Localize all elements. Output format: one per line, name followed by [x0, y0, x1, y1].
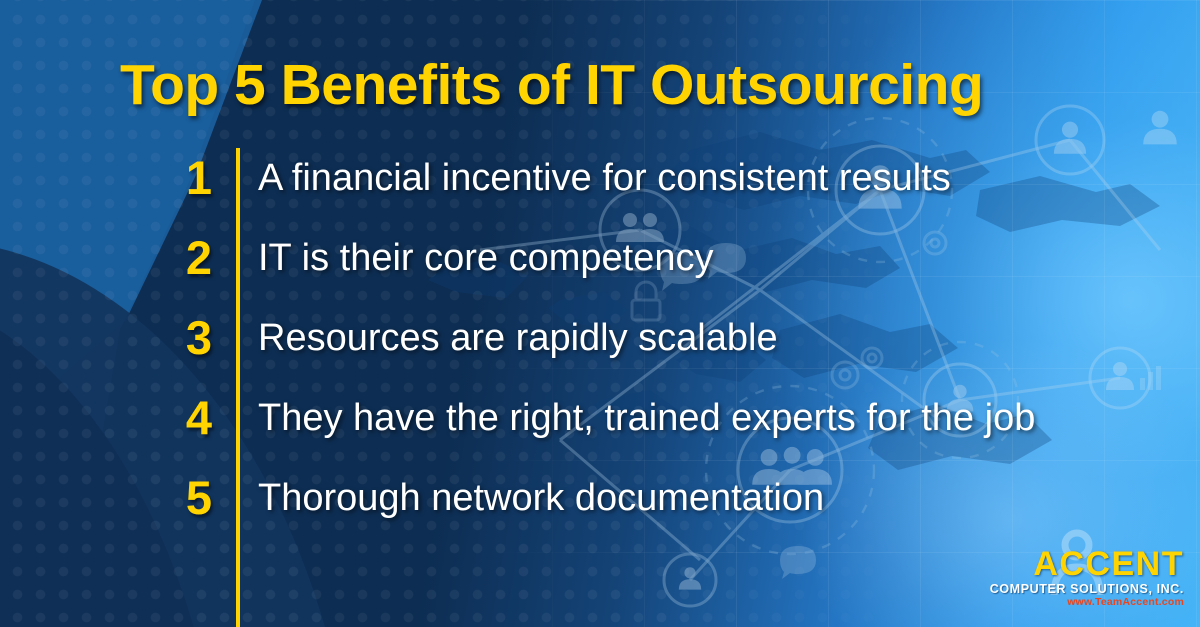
list-item-text: Resources are rapidly scalable — [258, 312, 778, 364]
infographic-poster: Top 5 Benefits of IT Outsourcing 1 A fin… — [0, 0, 1200, 627]
list-item-text: IT is their core competency — [258, 232, 713, 284]
list-item-text: They have the right, trained experts for… — [258, 392, 1035, 444]
list-item-number: 1 — [150, 152, 212, 204]
logo-url: www.TeamAccent.com — [990, 597, 1184, 608]
logo-name: ACCENT — [990, 547, 1184, 581]
list-item-text: Thorough network documentation — [258, 472, 824, 524]
yellow-divider-rule — [236, 148, 240, 627]
company-logo: ACCENT COMPUTER SOLUTIONS, INC. www.Team… — [990, 547, 1184, 607]
list-item-number: 3 — [150, 312, 212, 364]
list-item-number: 2 — [150, 232, 212, 284]
page-title: Top 5 Benefits of IT Outsourcing — [120, 52, 983, 118]
list-item-text: A financial incentive for consistent res… — [258, 152, 951, 204]
list-item-number: 5 — [150, 472, 212, 524]
logo-subtitle: COMPUTER SOLUTIONS, INC. — [990, 583, 1184, 596]
list-item-number: 4 — [150, 392, 212, 444]
